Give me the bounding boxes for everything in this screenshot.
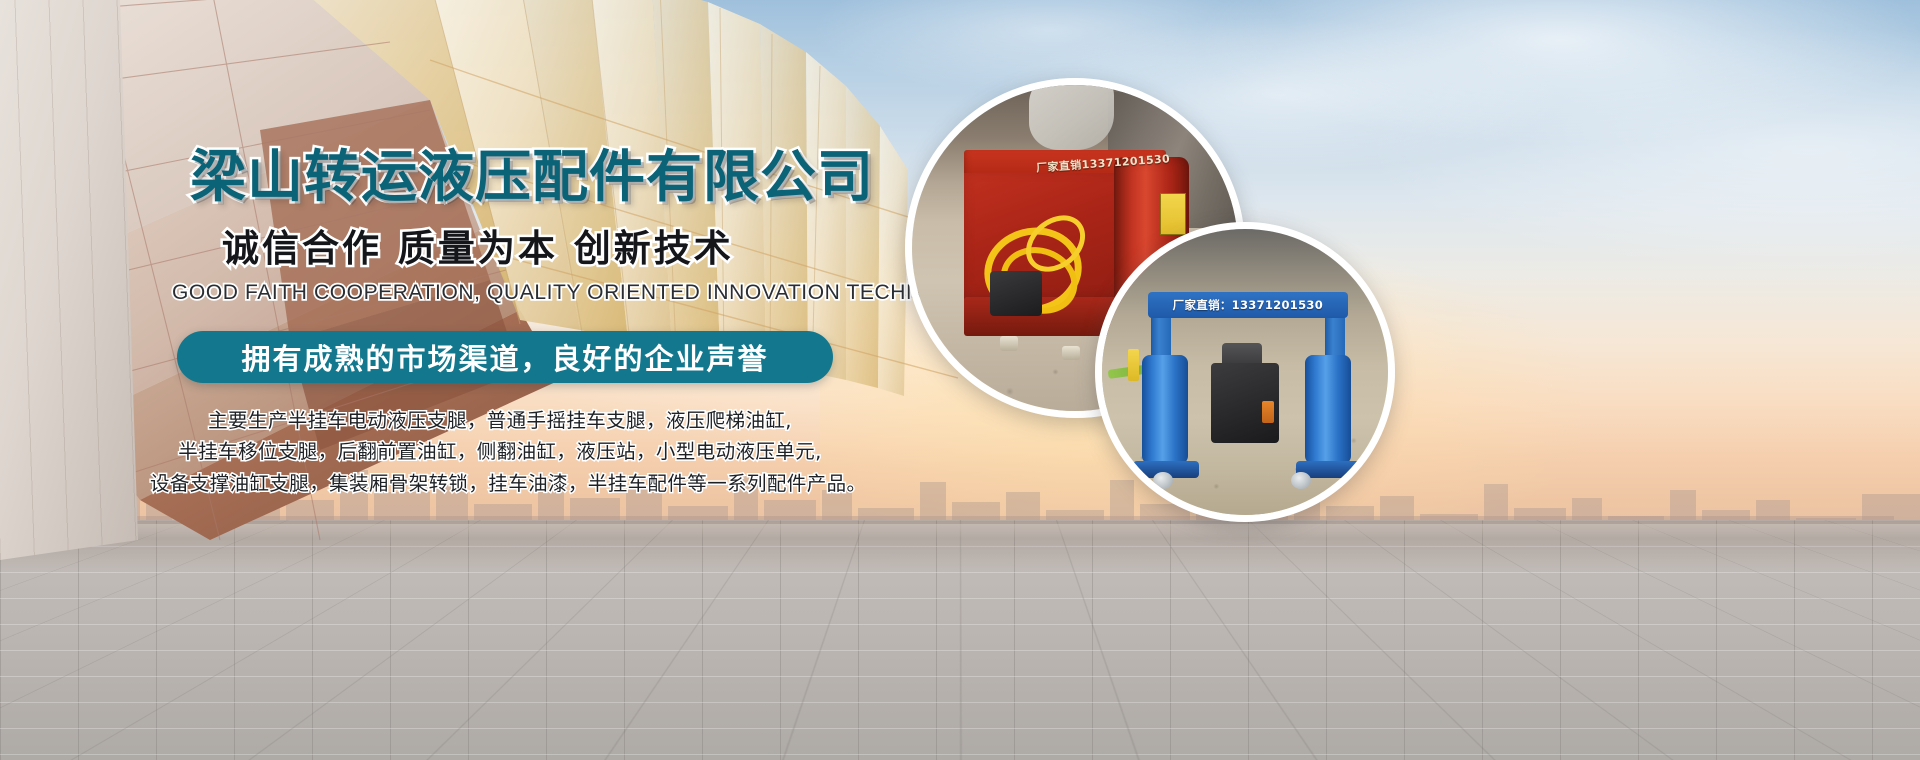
hero-banner: 梁山转运液压配件有限公司 诚信合作 质量为本 创新技术 GOOD FAITH C… xyxy=(0,0,1920,760)
blue-machine-phone-overlay: 厂家直销：13371201530 xyxy=(1173,297,1323,313)
company-title: 梁山转运液压配件有限公司 xyxy=(190,150,910,206)
blue-machine-yellow-tag xyxy=(1128,349,1139,380)
blue-machine-caster-right xyxy=(1291,472,1311,489)
blue-machine-cylinder-right xyxy=(1305,355,1351,464)
red-machine-wheel-2 xyxy=(1062,346,1080,361)
blue-photo-content: 厂家直销：13371201530 xyxy=(1102,229,1388,515)
blue-machine-top-bar: 厂家直销：13371201530 xyxy=(1148,292,1348,318)
banner-copy: 梁山转运液压配件有限公司 诚信合作 质量为本 创新技术 GOOD FAITH C… xyxy=(150,150,910,499)
slogan-chinese: 诚信合作 质量为本 创新技术 xyxy=(222,228,910,271)
product-photo-blue-landing-gear: 厂家直销：13371201530 xyxy=(1095,222,1395,522)
blue-machine-orange-part xyxy=(1262,401,1273,424)
red-machine-motor xyxy=(990,271,1042,317)
highlight-pill-text: 拥有成熟的市场渠道，良好的企业声誉 xyxy=(241,336,768,378)
description-line-2: 半挂车移位支腿，后翻前置油缸，侧翻油缸，液压站，小型电动液压单元, xyxy=(150,436,850,468)
product-description: 主要生产半挂车电动液压支腿，普通手摇挂车支腿，液压爬梯油缸, 半挂车移位支腿，后… xyxy=(150,405,850,500)
highlight-pill: 拥有成熟的市场渠道，良好的企业声誉 xyxy=(177,331,833,383)
red-machine-wheel-1 xyxy=(1000,336,1018,351)
description-line-1: 主要生产半挂车电动液压支腿，普通手摇挂车支腿，液压爬梯油缸, xyxy=(150,405,850,437)
slogan-english: GOOD FAITH COOPERATION, QUALITY ORIENTED… xyxy=(172,281,910,305)
description-line-3: 设备支撑油缸支腿，集装厢骨架转锁，挂车油漆，半挂车配件等一系列配件产品。 xyxy=(150,468,850,500)
red-photo-tarp xyxy=(1029,78,1114,150)
blue-machine-cylinder-left xyxy=(1142,355,1188,464)
